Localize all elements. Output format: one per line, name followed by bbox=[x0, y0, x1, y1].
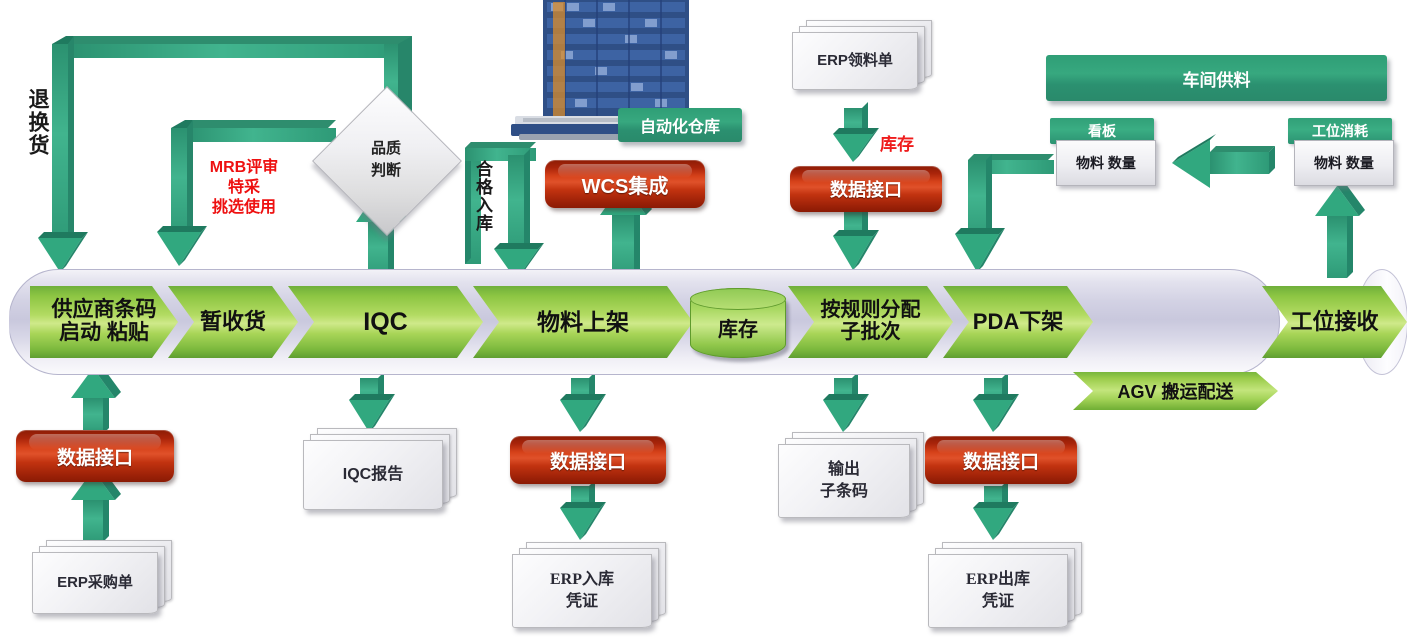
data-interface-box-outbound[interactable]: 数据接口 bbox=[925, 436, 1077, 484]
data-interface-box-purchase[interactable]: 数据接口 bbox=[16, 430, 174, 482]
data-interface-box-inbound[interactable]: 数据接口 bbox=[510, 436, 666, 484]
pipeline-step-material-shelving[interactable]: 物料上架 bbox=[473, 286, 693, 358]
doc-sheet-front: ERP出库 凭证 bbox=[928, 554, 1068, 628]
doc-sheet-front: 输出 子条码 bbox=[778, 444, 910, 518]
doc-sheet-front: ERP入库 凭证 bbox=[512, 554, 652, 628]
qualified-inbound-label: 合格入库 bbox=[470, 160, 495, 232]
inventory-note-label: 库存 bbox=[880, 130, 914, 155]
doc-sheet-front: ERP领料单 bbox=[792, 32, 918, 90]
step-label: 暂收货 bbox=[200, 310, 266, 334]
erp-inbound-doc-line1: ERP入库 bbox=[550, 569, 614, 591]
doc-sheet-front: ERP采购单 bbox=[32, 552, 158, 614]
pipeline-step-iqc[interactable]: IQC bbox=[288, 286, 483, 358]
data-interface-label: 数据接口 bbox=[830, 176, 902, 202]
mrb-line-1: MRB评审 bbox=[192, 158, 296, 178]
sublot-to-barcode-arrow bbox=[823, 372, 869, 432]
inventory-store-cylinder[interactable]: 库存 bbox=[690, 288, 786, 358]
erp-issue-doc-label: ERP领料单 bbox=[817, 51, 893, 71]
erp-issue-to-interface-arrow bbox=[833, 102, 879, 162]
consume-to-kanban-arrow bbox=[1172, 134, 1275, 188]
shelving-to-interface-arrow bbox=[560, 372, 606, 432]
pda-to-interface-arrow bbox=[973, 372, 1019, 432]
process-diagram-canvas: AGV 供应商条码 启动 粘贴 暂收货 IQC 物料上架 库存 按规则分配 子批… bbox=[0, 0, 1407, 643]
interface-to-pipeline-arrow bbox=[833, 206, 879, 270]
step-label-line2: 子批次 bbox=[821, 322, 921, 344]
diamond-label: 品质 判断 bbox=[334, 108, 438, 212]
interface-to-erp-outbound-arrow bbox=[973, 480, 1019, 540]
output-sub-barcode-line2: 子条码 bbox=[820, 481, 868, 503]
erp-outbound-doc-line1: ERP出库 bbox=[966, 569, 1030, 591]
step-label: 物料上架 bbox=[537, 310, 629, 335]
erp-outbound-doc-line2: 凭证 bbox=[966, 591, 1030, 613]
erp-outbound-doc-stack[interactable]: ERP出库 凭证 bbox=[928, 542, 1088, 638]
iqc-report-down-arrow bbox=[349, 372, 395, 432]
kanban-card[interactable]: 看板 物料 数量 bbox=[1050, 118, 1154, 188]
wcs-label: WCS集成 bbox=[582, 170, 669, 199]
agv-transport-band[interactable]: AGV 搬运配送 bbox=[1073, 372, 1278, 410]
station-consume-up-arrow bbox=[1315, 180, 1365, 278]
output-sub-barcode-line1: 输出 bbox=[820, 459, 868, 481]
inventory-store-label: 库存 bbox=[718, 313, 758, 342]
erp-purchase-doc-stack[interactable]: ERP采购单 bbox=[32, 540, 172, 620]
doc-sheet-front: IQC报告 bbox=[303, 440, 443, 510]
erp-purchase-doc-label: ERP采购单 bbox=[57, 573, 133, 593]
mrb-line-3: 挑选使用 bbox=[192, 198, 296, 218]
warehouse-label-text: 自动化仓库 bbox=[640, 113, 720, 137]
data-interface-label: 数据接口 bbox=[550, 447, 626, 474]
step-label-line2: 启动 粘贴 bbox=[52, 322, 157, 345]
step-label-line1: 按规则分配 bbox=[821, 300, 921, 322]
kanban-card-body: 物料 数量 bbox=[1056, 140, 1156, 186]
return-goods-label: 退换货 bbox=[22, 88, 52, 157]
erp-inbound-doc-line2: 凭证 bbox=[550, 591, 614, 613]
iqc-report-doc-stack[interactable]: IQC报告 bbox=[303, 428, 463, 518]
mrb-line-2: 特采 bbox=[192, 178, 296, 198]
step-label: IQC bbox=[363, 309, 407, 336]
step-label: 工位接收 bbox=[1290, 310, 1378, 334]
pipeline-step-supplier-barcode[interactable]: 供应商条码 启动 粘贴 bbox=[30, 286, 178, 358]
mrb-review-label: MRB评审 特采 挑选使用 bbox=[192, 158, 296, 218]
workshop-supply-banner[interactable]: 车间供料 bbox=[1046, 55, 1387, 101]
automated-warehouse-label[interactable]: 自动化仓库 bbox=[618, 108, 742, 142]
diamond-label-line2: 判断 bbox=[371, 160, 401, 183]
output-sub-barcode-doc-stack[interactable]: 输出 子条码 bbox=[778, 432, 928, 528]
quality-decision-diamond[interactable]: 品质 判断 bbox=[334, 108, 438, 212]
station-consume-card[interactable]: 工位消耗 物料 数量 bbox=[1288, 118, 1392, 188]
interface-to-erp-inbound-arrow bbox=[560, 480, 606, 540]
kanban-to-pipeline-arrow bbox=[955, 154, 1054, 272]
agv-band-label: AGV 搬运配送 bbox=[1117, 378, 1233, 404]
iqc-report-doc-label: IQC报告 bbox=[343, 464, 403, 486]
wcs-integration-box[interactable]: WCS集成 bbox=[545, 160, 705, 208]
workshop-supply-label: 车间供料 bbox=[1183, 66, 1251, 91]
erp-inbound-doc-stack[interactable]: ERP入库 凭证 bbox=[512, 542, 672, 638]
station-consume-card-body: 物料 数量 bbox=[1294, 140, 1394, 186]
diamond-label-line1: 品质 bbox=[371, 138, 401, 161]
data-interface-label: 数据接口 bbox=[963, 447, 1039, 474]
erp-issue-doc-stack[interactable]: ERP领料单 bbox=[792, 20, 932, 92]
data-interface-label: 数据接口 bbox=[57, 443, 133, 470]
data-interface-box-top[interactable]: 数据接口 bbox=[790, 166, 942, 212]
step-label: PDA下架 bbox=[973, 310, 1063, 334]
step-label-line1: 供应商条码 bbox=[52, 299, 157, 322]
